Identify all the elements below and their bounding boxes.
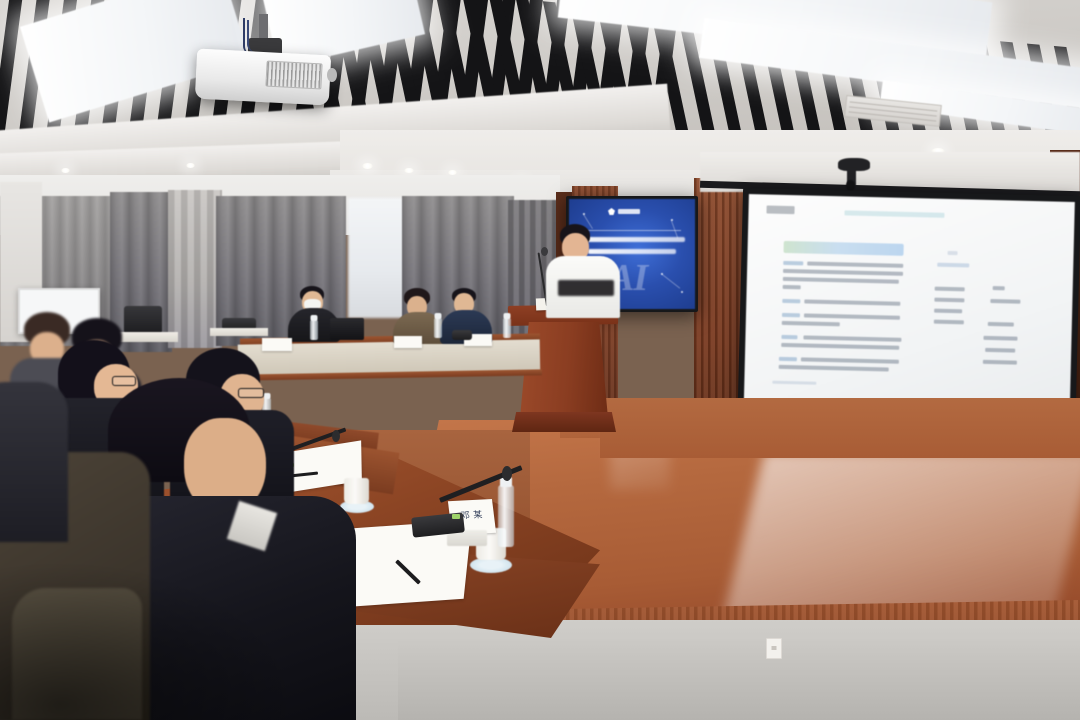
paragraph-key xyxy=(783,261,803,265)
presenter-shadow xyxy=(558,280,614,296)
right-column-row xyxy=(934,320,964,325)
right-column-row xyxy=(983,336,1017,341)
vignette xyxy=(0,560,300,720)
attendee-edge-left xyxy=(0,382,68,542)
recessed-downlight xyxy=(61,168,70,173)
paragraph-key xyxy=(782,313,800,317)
paragraph-line xyxy=(804,313,900,319)
paragraph-line xyxy=(779,365,889,372)
recessed-downlight xyxy=(186,163,195,168)
wall-outlet xyxy=(766,638,782,659)
paragraph-key xyxy=(781,335,797,339)
right-column-row xyxy=(935,287,965,292)
paragraph-key xyxy=(782,299,800,303)
water-bottle xyxy=(498,485,514,547)
desk-microphone-led xyxy=(452,514,460,519)
projector-vent-grille xyxy=(265,61,322,90)
paragraph-line xyxy=(783,277,899,284)
stage-floor-upper xyxy=(600,398,1080,458)
teacup xyxy=(344,478,369,504)
right-column-row xyxy=(934,298,964,303)
right-column-row xyxy=(983,360,1017,365)
bottle-cap xyxy=(311,315,318,321)
projector-cable xyxy=(247,20,261,52)
window-curtain xyxy=(168,190,222,348)
bottle-cap xyxy=(504,313,511,319)
desk-microphone-head xyxy=(502,466,512,481)
paragraph-key xyxy=(779,357,797,361)
section-heading-bar xyxy=(784,241,904,256)
paragraph-line xyxy=(783,285,801,289)
desk-microphone xyxy=(452,330,472,340)
paragraph-line xyxy=(781,343,899,350)
podium-base xyxy=(512,412,616,432)
laptop xyxy=(330,318,364,340)
carpet-floor xyxy=(398,640,1080,720)
water-bottle xyxy=(434,318,442,338)
paragraph-line xyxy=(782,321,840,326)
right-column-row xyxy=(934,309,962,314)
presenter xyxy=(540,224,626,324)
right-column-row xyxy=(988,322,1014,327)
right-column-row xyxy=(985,348,1015,353)
slide-footer xyxy=(772,381,816,385)
bottle-cap xyxy=(435,313,442,319)
paragraph-line xyxy=(783,269,903,276)
slide-header-faint xyxy=(844,210,944,217)
recessed-downlight xyxy=(404,168,414,173)
right-column-row xyxy=(990,299,1020,304)
paragraph-line xyxy=(807,261,903,267)
paragraph-line xyxy=(803,335,901,341)
projector-lens xyxy=(327,68,337,82)
water-bottle xyxy=(310,320,318,340)
water-bottle xyxy=(503,318,511,338)
slide-badge xyxy=(766,205,794,214)
security-camera-lens xyxy=(846,180,855,191)
right-column-sub xyxy=(937,263,969,268)
recessed-downlight xyxy=(362,163,373,169)
right-column-row xyxy=(993,286,1005,290)
conference-room-photo: AI xyxy=(0,0,1080,720)
paragraph-line xyxy=(804,299,900,305)
paragraph-line xyxy=(801,357,899,363)
right-column-title xyxy=(948,251,958,255)
name-card xyxy=(394,336,422,348)
equipment-shelf xyxy=(210,328,268,336)
